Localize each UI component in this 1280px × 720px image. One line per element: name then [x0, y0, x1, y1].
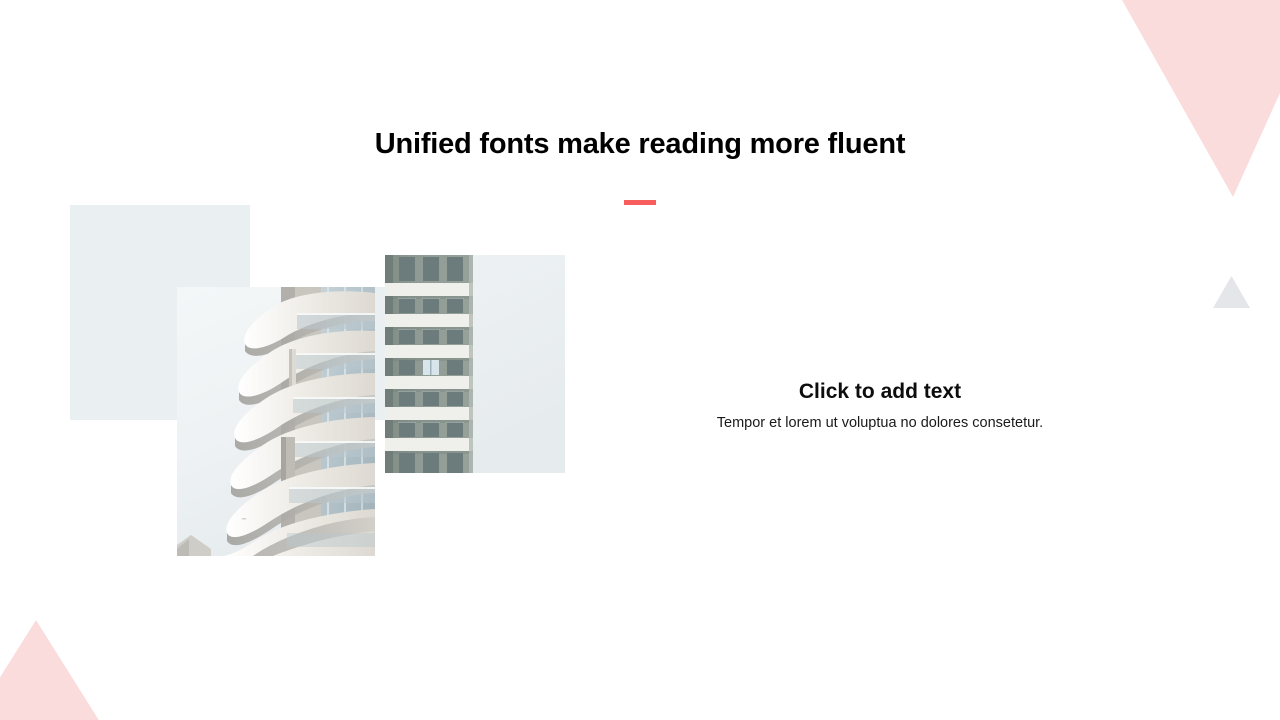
slide-canvas: Unified fonts make reading more fluent C…: [0, 0, 1280, 720]
page-title: Unified fonts make reading more fluent: [240, 126, 1040, 162]
architecture-photo-collage: [0, 0, 640, 600]
collage-photo-facade: [385, 255, 565, 473]
body-text-block: Click to add text Tempor et lorem ut vol…: [640, 378, 1120, 433]
body-heading[interactable]: Click to add text: [640, 378, 1120, 406]
red-accent-rule: [624, 200, 656, 205]
collage-sky-block-lower: [70, 287, 177, 420]
collage-sky-block-upper: [70, 205, 250, 287]
collage-photo-spiral-tower: [177, 287, 375, 556]
triangle-bottom-left-shape: [0, 620, 100, 720]
body-paragraph[interactable]: Tempor et lorem ut voluptua no dolores c…: [640, 413, 1120, 433]
triangle-small-right-shape: [1213, 276, 1250, 308]
triangle-top-right-shape: [1122, 0, 1280, 197]
